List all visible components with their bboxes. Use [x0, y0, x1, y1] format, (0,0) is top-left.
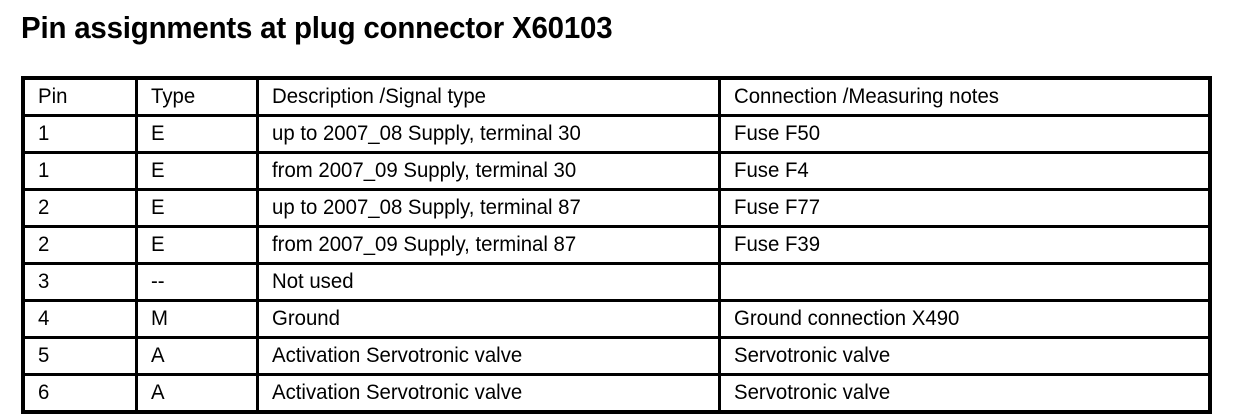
cell-pin: 4 — [23, 301, 136, 338]
cell-description-value: Ground — [272, 307, 340, 331]
column-header-pin-label: Pin — [38, 85, 67, 109]
cell-description-value: from 2007_09 Supply, terminal 87 — [272, 233, 576, 257]
cell-connection-value: Servotronic valve — [734, 344, 890, 368]
cell-pin: 5 — [23, 338, 136, 375]
cell-description: Activation Servotronic valve — [257, 338, 719, 375]
cell-description: Ground — [257, 301, 719, 338]
table-row: 4 M Ground Ground connection X490 — [23, 301, 1210, 338]
cell-type-value: A — [151, 344, 165, 368]
pin-assignment-page: Pin assignments at plug connector X60103… — [0, 0, 1248, 408]
cell-type: E — [136, 116, 257, 153]
cell-pin: 2 — [23, 190, 136, 227]
cell-connection: Fuse F39 — [719, 227, 1210, 264]
cell-description-value: Activation Servotronic valve — [272, 381, 522, 405]
cell-description-value: up to 2007_08 Supply, terminal 30 — [272, 122, 581, 146]
cell-type-value: -- — [151, 270, 165, 294]
cell-pin-value: 1 — [38, 122, 49, 146]
table-row: 2 E from 2007_09 Supply, terminal 87 Fus… — [23, 227, 1210, 264]
cell-type-value: A — [151, 381, 165, 405]
cell-pin-value: 3 — [38, 270, 49, 294]
cell-type: E — [136, 153, 257, 190]
cell-connection: Ground connection X490 — [719, 301, 1210, 338]
cell-type: -- — [136, 264, 257, 301]
cell-type: E — [136, 227, 257, 264]
column-header-connection-label: Connection /Measuring notes — [734, 85, 999, 109]
table-row: 1 E up to 2007_08 Supply, terminal 30 Fu… — [23, 116, 1210, 153]
cell-pin-value: 5 — [38, 344, 49, 368]
cell-type: E — [136, 190, 257, 227]
cell-connection: Fuse F4 — [719, 153, 1210, 190]
cell-type-value: M — [151, 307, 168, 331]
cell-description: from 2007_09 Supply, terminal 87 — [257, 227, 719, 264]
cell-connection-value: Fuse F50 — [734, 122, 820, 146]
cell-pin: 2 — [23, 227, 136, 264]
column-header-type-label: Type — [151, 85, 195, 109]
cell-type: A — [136, 338, 257, 375]
table-header: Pin Type Description /Signal type Connec… — [23, 78, 1210, 116]
cell-type-value: E — [151, 122, 165, 146]
column-header-description-label: Description /Signal type — [272, 85, 486, 109]
cell-pin-value: 2 — [38, 196, 49, 220]
cell-type-value: E — [151, 159, 165, 183]
table-row: 1 E from 2007_09 Supply, terminal 30 Fus… — [23, 153, 1210, 190]
cell-pin-value: 1 — [38, 159, 49, 183]
cell-type-value: E — [151, 233, 165, 257]
page-title: Pin assignments at plug connector X60103 — [21, 9, 612, 47]
pin-assignment-table: Pin Type Description /Signal type Connec… — [21, 76, 1212, 414]
cell-pin: 1 — [23, 153, 136, 190]
pin-assignment-table-wrapper: Pin Type Description /Signal type Connec… — [21, 76, 1212, 414]
cell-type-value: E — [151, 196, 165, 220]
column-header-type: Type — [136, 78, 257, 116]
cell-pin-value: 4 — [38, 307, 49, 331]
cell-connection-value: Fuse F4 — [734, 159, 809, 183]
table-row: 2 E up to 2007_08 Supply, terminal 87 Fu… — [23, 190, 1210, 227]
cell-description: Not used — [257, 264, 719, 301]
cell-connection-value: Ground connection X490 — [734, 307, 959, 331]
cell-connection-value: Fuse F77 — [734, 196, 820, 220]
cell-connection: Servotronic valve — [719, 338, 1210, 375]
cell-description: up to 2007_08 Supply, terminal 87 — [257, 190, 719, 227]
cell-connection: Servotronic valve — [719, 375, 1210, 413]
cell-connection — [719, 264, 1210, 301]
cell-description-value: from 2007_09 Supply, terminal 30 — [272, 159, 576, 183]
cell-pin-value: 2 — [38, 233, 49, 257]
table-row: 5 A Activation Servotronic valve Servotr… — [23, 338, 1210, 375]
table-header-row: Pin Type Description /Signal type Connec… — [23, 78, 1210, 116]
cell-connection-value: Fuse F39 — [734, 233, 820, 257]
cell-connection: Fuse F50 — [719, 116, 1210, 153]
cell-connection-value: Servotronic valve — [734, 381, 890, 405]
cell-pin-value: 6 — [38, 381, 49, 405]
column-header-description: Description /Signal type — [257, 78, 719, 116]
cell-pin: 6 — [23, 375, 136, 413]
cell-description: up to 2007_08 Supply, terminal 30 — [257, 116, 719, 153]
cell-type: A — [136, 375, 257, 413]
cell-description-value: Not used — [272, 270, 354, 294]
cell-description: Activation Servotronic valve — [257, 375, 719, 413]
column-header-pin: Pin — [23, 78, 136, 116]
table-row: 3 -- Not used — [23, 264, 1210, 301]
cell-pin: 3 — [23, 264, 136, 301]
column-header-connection: Connection /Measuring notes — [719, 78, 1210, 116]
cell-connection: Fuse F77 — [719, 190, 1210, 227]
cell-type: M — [136, 301, 257, 338]
cell-description-value: Activation Servotronic valve — [272, 344, 522, 368]
table-row: 6 A Activation Servotronic valve Servotr… — [23, 375, 1210, 413]
cell-pin: 1 — [23, 116, 136, 153]
cell-description: from 2007_09 Supply, terminal 30 — [257, 153, 719, 190]
table-body: 1 E up to 2007_08 Supply, terminal 30 Fu… — [23, 116, 1210, 413]
cell-description-value: up to 2007_08 Supply, terminal 87 — [272, 196, 581, 220]
